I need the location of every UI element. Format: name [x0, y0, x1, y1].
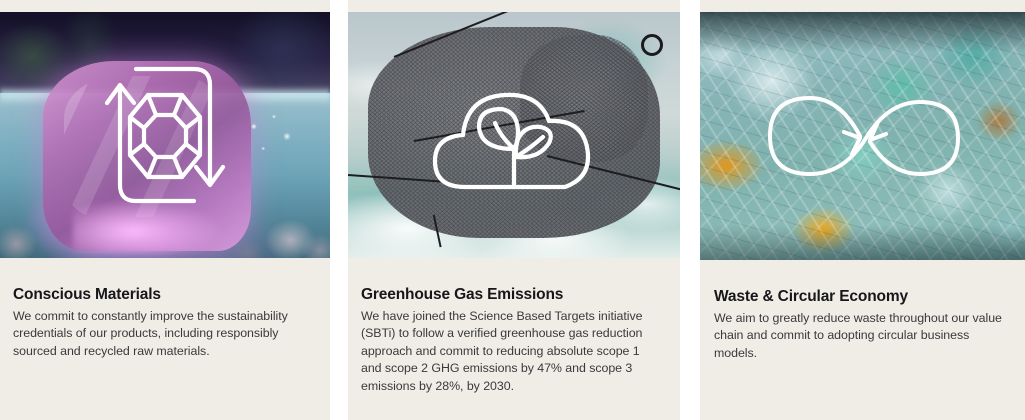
card-heading: Conscious Materials	[13, 286, 317, 305]
card-text-conscious-materials: Conscious Materials We commit to constan…	[0, 258, 330, 360]
card-body: We commit to constantly improve the sust…	[13, 308, 313, 361]
card-body: We aim to greatly reduce waste throughou…	[714, 310, 1009, 363]
card-media-greenhouse-gas-emissions	[348, 12, 680, 258]
card-media-waste-circular-economy	[700, 12, 1025, 260]
pillar-card-greenhouse-gas-emissions: Greenhouse Gas Emissions We have joined …	[348, 0, 680, 420]
card-body: We have joined the Science Based Targets…	[361, 308, 657, 396]
card-heading: Waste & Circular Economy	[714, 288, 1009, 307]
pillar-card-waste-circular-economy: Waste & Circular Economy We aim to great…	[700, 0, 1025, 420]
wire-mesh-cloud-sculpture-photo	[348, 12, 680, 258]
sustainability-pillars-grid: Conscious Materials We commit to constan…	[0, 0, 1025, 420]
purple-gemstone-in-water-photo	[0, 12, 330, 258]
recycled-glass-cullet-photo	[700, 12, 1025, 260]
column-gutter	[680, 0, 700, 420]
card-text-greenhouse-gas-emissions: Greenhouse Gas Emissions We have joined …	[348, 258, 680, 396]
column-gutter	[330, 0, 348, 420]
card-media-conscious-materials	[0, 12, 330, 258]
card-text-waste-circular-economy: Waste & Circular Economy We aim to great…	[700, 260, 1025, 362]
card-heading: Greenhouse Gas Emissions	[361, 286, 667, 305]
pillar-card-conscious-materials: Conscious Materials We commit to constan…	[0, 0, 330, 420]
